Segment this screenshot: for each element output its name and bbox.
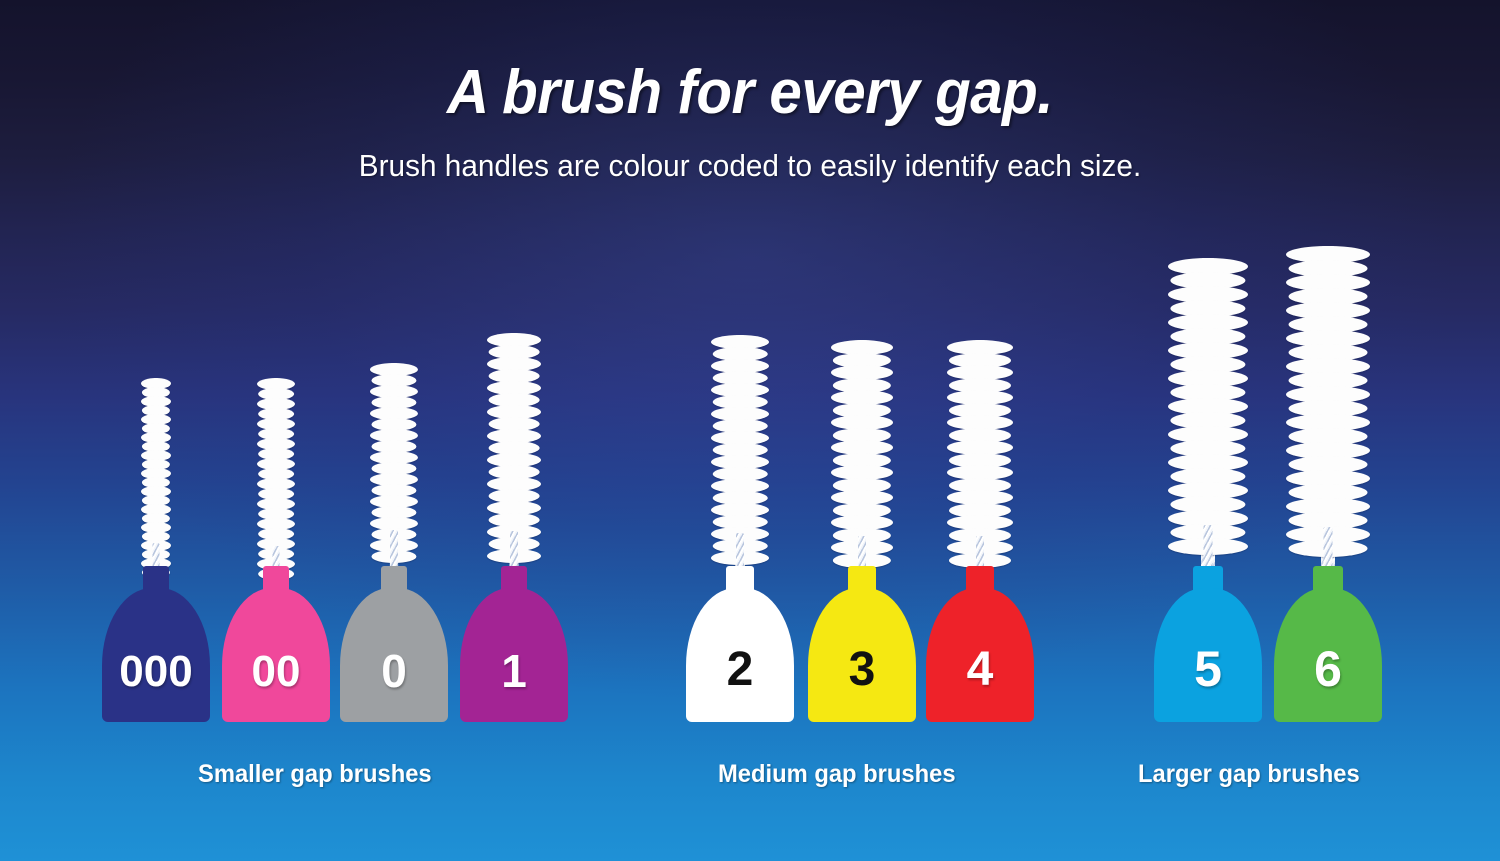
brush-size-number: 1	[460, 648, 568, 694]
brush-wire-stem	[1204, 525, 1213, 570]
brush-handle[interactable]: 1	[460, 566, 568, 722]
brush-wire-stem	[390, 530, 398, 570]
infographic-poster: A brush for every gap. Brush handles are…	[0, 0, 1500, 861]
brush-wire-stem	[1324, 527, 1333, 570]
brush-handle[interactable]: 2	[686, 566, 794, 722]
group-label-smaller: Smaller gap brushes	[198, 760, 432, 789]
brush-handle[interactable]: 00	[222, 566, 330, 722]
brush-handle[interactable]: 4	[926, 566, 1034, 722]
group-label-medium: Medium gap brushes	[718, 760, 956, 789]
brush-bristle-head	[1168, 258, 1248, 569]
brush-size-number: 00	[222, 650, 330, 694]
brush-size-number: 2	[686, 646, 794, 694]
brush-bristle-head	[1286, 246, 1370, 571]
brush-wire-stem	[736, 533, 744, 570]
brush-wire-stem	[858, 536, 866, 570]
brush-lineup: 000000123456Smaller gap brushesMedium ga…	[0, 0, 1500, 861]
brush-wire-stem	[510, 531, 518, 570]
brush-handle[interactable]: 5	[1154, 566, 1262, 722]
brush-size-number: 000	[102, 650, 210, 694]
brush-size-number: 3	[808, 646, 916, 694]
brush-handle[interactable]: 000	[102, 566, 210, 722]
brush-size-number: 4	[926, 646, 1034, 694]
brush-size-number: 5	[1154, 644, 1262, 694]
brush-handle[interactable]: 3	[808, 566, 916, 722]
brush-size-number: 0	[340, 648, 448, 694]
brush-wire-stem	[976, 536, 984, 570]
brush-size-number: 6	[1274, 644, 1382, 694]
brush-handle[interactable]: 0	[340, 566, 448, 722]
group-label-larger: Larger gap brushes	[1138, 760, 1360, 789]
brush-handle[interactable]: 6	[1274, 566, 1382, 722]
